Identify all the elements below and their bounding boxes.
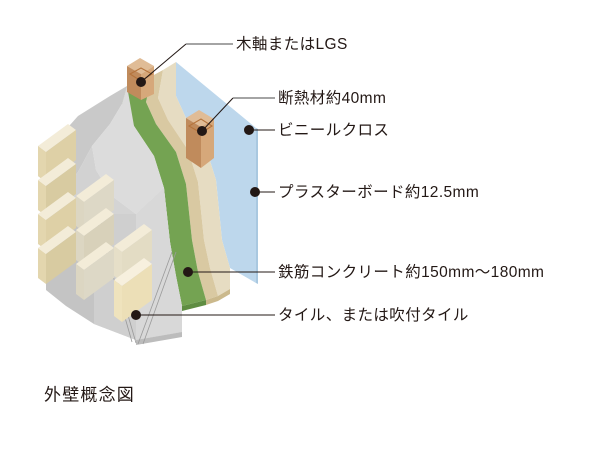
dot-reinforced-concrete (183, 267, 193, 277)
callout-label-wood-frame-lgs: 木軸またはLGS (236, 35, 348, 53)
wall-cross-section-diagram: 木軸またはLGS 断熱材約40mm ビニールクロス プラスターボード約12.5m… (0, 0, 600, 449)
stud-lower (186, 110, 214, 168)
tile-item (76, 264, 84, 300)
tile-item (38, 248, 46, 284)
dot-vinyl-cloth (244, 125, 254, 135)
dot-tile (131, 310, 141, 320)
dot-plaster-board (250, 187, 260, 197)
tile-item (114, 280, 122, 322)
exterior-wall-figure: 木軸またはLGS 断熱材約40mm ビニールクロス プラスターボード約12.5m… (0, 0, 600, 449)
dot-wood-frame-lgs (136, 77, 146, 87)
callout-label-insulation: 断熱材約40mm (278, 89, 386, 107)
callout-label-vinyl-cloth: ビニールクロス (278, 121, 389, 139)
figure-caption: 外壁概念図 (44, 384, 135, 404)
callout-label-reinforced-concrete: 鉄筋コンクリート約150mm〜180mm (278, 263, 544, 281)
callout-label-plaster-board: プラスターボード約12.5mm (278, 183, 479, 201)
dot-insulation (197, 126, 207, 136)
vinyl-cloth-edge (256, 128, 258, 284)
callout-label-tile: タイル、または吹付タイル (278, 306, 469, 324)
callout-labels: 木軸またはLGS 断熱材約40mm ビニールクロス プラスターボード約12.5m… (236, 35, 544, 324)
